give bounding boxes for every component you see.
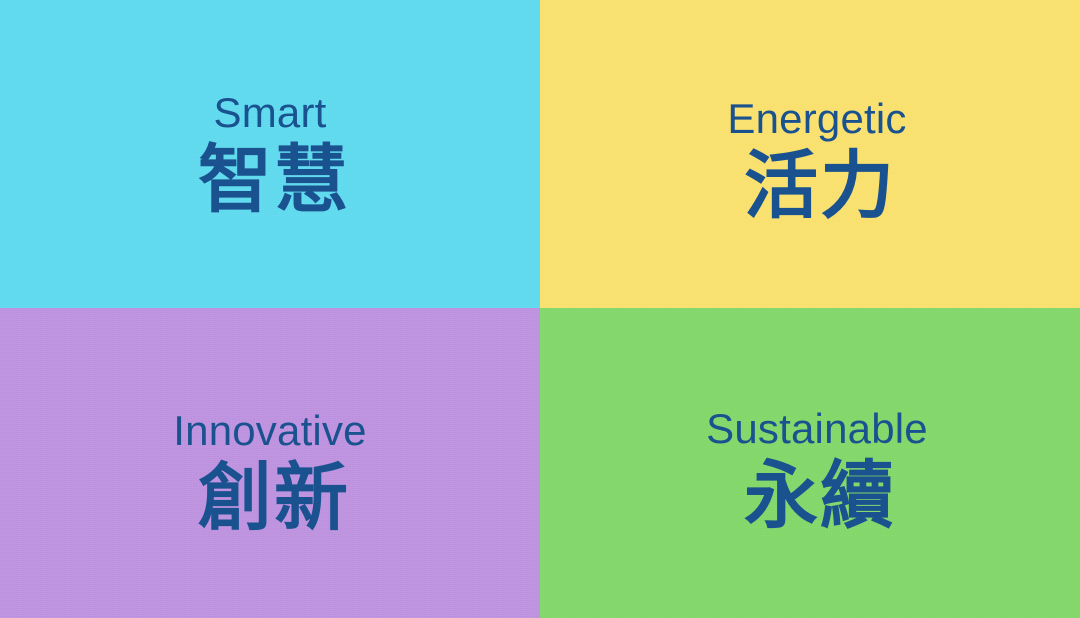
quadrant-innovative: Innovative 創新 bbox=[0, 308, 540, 618]
quadrant-innovative-textblock: Innovative 創新 bbox=[0, 410, 540, 535]
quadrant-energetic-textblock: Energetic 活力 bbox=[540, 98, 1080, 223]
quadrant-smart-label-en: Smart bbox=[0, 92, 540, 134]
quadrant-innovative-label-en: Innovative bbox=[0, 410, 540, 452]
quadrant-sustainable-label-cjk: 永續 bbox=[540, 458, 1080, 533]
quadrant-innovative-label-cjk: 創新 bbox=[0, 460, 540, 535]
quadrant-smart: Smart 智慧 bbox=[0, 0, 540, 308]
quadrant-sustainable-label-en: Sustainable bbox=[540, 408, 1080, 450]
quadrant-sustainable: Sustainable 永續 bbox=[540, 308, 1080, 618]
quadrant-energetic: Energetic 活力 bbox=[540, 0, 1080, 308]
quadrant-energetic-label-en: Energetic bbox=[540, 98, 1080, 140]
quadrant-smart-textblock: Smart 智慧 bbox=[0, 92, 540, 217]
quadrant-energetic-label-cjk: 活力 bbox=[540, 148, 1080, 223]
quadrant-smart-label-cjk: 智慧 bbox=[0, 142, 540, 217]
brand-values-quadrant-canvas: Smart 智慧 Energetic 活力 Innovative 創新 Sust… bbox=[0, 0, 1080, 618]
quadrant-sustainable-textblock: Sustainable 永續 bbox=[540, 408, 1080, 533]
